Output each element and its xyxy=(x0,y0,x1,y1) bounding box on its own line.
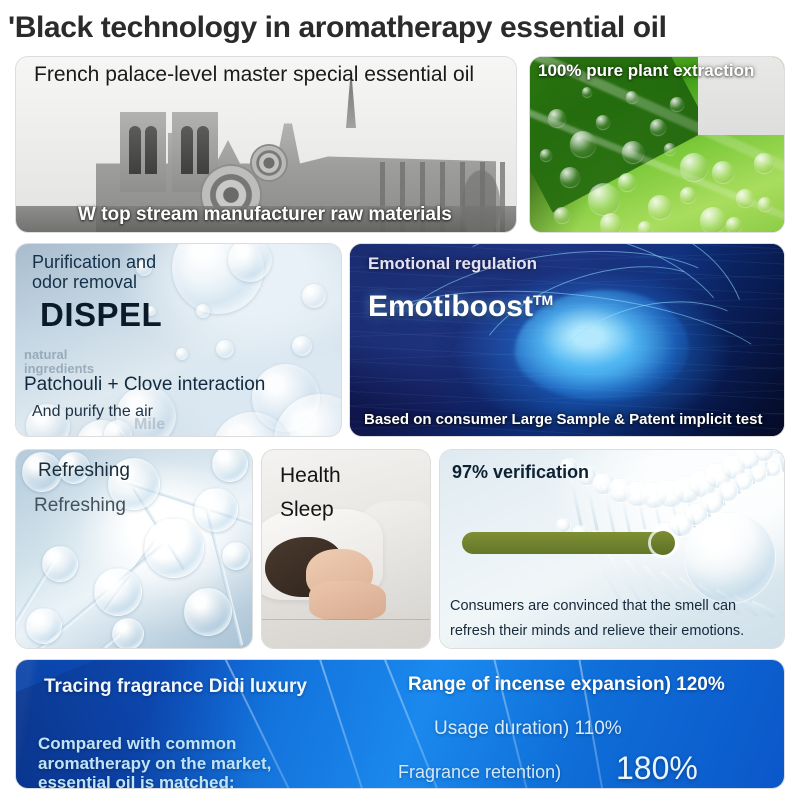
panel-refreshing: Refreshing Refreshing xyxy=(16,450,252,648)
dispel-brand: DISPEL xyxy=(40,296,162,334)
summary-heading: Tracing fragrance Didi luxury xyxy=(44,676,307,698)
cathedral-tower-left xyxy=(120,112,166,192)
background-trees xyxy=(446,142,516,232)
summary-stat-retention-label: Fragrance retention) xyxy=(398,762,561,783)
cathedral-heading: French palace-level master special essen… xyxy=(34,63,474,87)
summary-stat-retention-value: 180% xyxy=(616,750,698,787)
large-bubble xyxy=(684,512,776,604)
panel-verification: 97% verification Consumers are convinced… xyxy=(440,450,784,648)
refreshing-line-1: Refreshing xyxy=(38,460,130,482)
leaf-image xyxy=(530,57,784,232)
summary-stat-expansion: Range of incense expansion) 120% xyxy=(408,674,725,696)
emotiboost-heading: Emotional regulation xyxy=(368,254,537,274)
verification-progress-knob[interactable] xyxy=(651,531,675,555)
trademark-symbol: TM xyxy=(533,292,553,308)
emotiboost-brand: EmotiboostTM xyxy=(368,290,553,324)
emotiboost-footer: Based on consumer Large Sample & Patent … xyxy=(364,411,762,428)
verification-heading: 97% verification xyxy=(452,462,589,483)
cathedral-caption: W top stream manufacturer raw materials xyxy=(78,204,452,226)
panel-plant-extraction: 100% pure plant extraction xyxy=(530,57,784,232)
refreshing-line-2: Refreshing xyxy=(34,495,126,517)
panel-summary: Tracing fragrance Didi luxury Compared w… xyxy=(16,660,784,788)
summary-comparison: Compared with common aromatherapy on the… xyxy=(38,734,271,788)
verification-body-line-1: Consumers are convinced that the smell c… xyxy=(450,598,736,614)
panel-health-sleep: Health Sleep xyxy=(262,450,430,648)
dispel-natural-ingredients-label: natural ingredients xyxy=(24,348,94,376)
sleep-line-1: Health xyxy=(280,464,341,488)
panel-emotiboost: Emotional regulation EmotiboostTM Based … xyxy=(350,244,784,436)
panel-french-palace: French palace-level master special essen… xyxy=(16,57,516,232)
rose-window-upper xyxy=(252,146,286,180)
verification-body-line-2: refresh their minds and relieve their em… xyxy=(450,623,744,639)
infographic-page: 'Black technology in aromatherapy essent… xyxy=(0,0,800,800)
page-title: 'Black technology in aromatherapy essent… xyxy=(8,6,798,50)
verification-progress-track[interactable] xyxy=(462,532,680,554)
sleep-line-2: Sleep xyxy=(280,498,334,522)
panel-dispel: Purification and odor removal DISPEL nat… xyxy=(16,244,341,436)
sleeper-arm xyxy=(309,581,386,621)
emotiboost-brand-text: Emotiboost xyxy=(368,290,533,323)
summary-stat-duration: Usage duration) 110% xyxy=(434,718,622,740)
dispel-watermark: Mile xyxy=(134,416,165,434)
bed-edge-line xyxy=(262,619,430,621)
leaf-heading: 100% pure plant extraction xyxy=(538,61,754,81)
dispel-heading: Purification and odor removal xyxy=(32,252,156,292)
dispel-ingredients: Patchouli + Clove interaction xyxy=(24,374,265,396)
verification-progress-fill xyxy=(462,532,673,554)
